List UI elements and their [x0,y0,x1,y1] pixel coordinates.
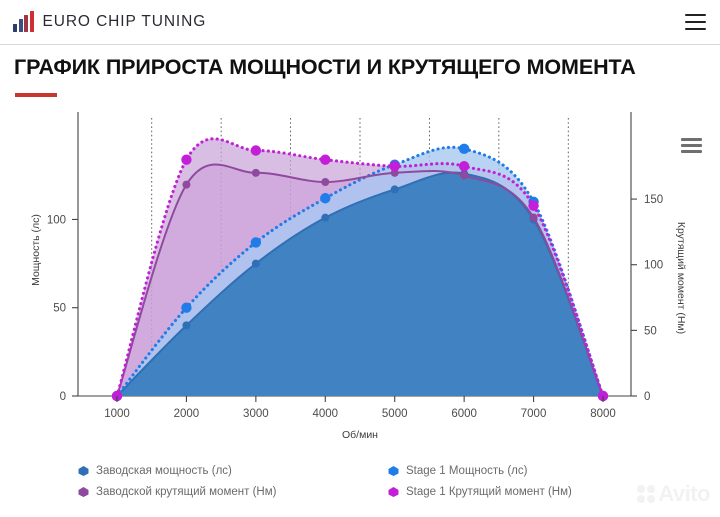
x-tick-label: 8000 [590,408,616,420]
avito-dots-icon [637,485,655,503]
legend-label: Stage 1 Крутящий момент (Нм) [406,486,572,498]
chart-legend: Заводская мощность (лс) Заводской крутящ… [0,455,720,517]
data-point[interactable] [251,237,261,247]
watermark-text: Avito [658,481,710,507]
data-point[interactable] [321,178,329,186]
bar-chart-logo-icon [13,12,34,32]
data-point[interactable] [181,303,191,313]
data-point[interactable] [182,321,190,329]
x-tick-label: 3000 [243,408,269,420]
x-tick-label: 2000 [174,408,200,420]
legend-item-stage1-torque[interactable]: Stage 1 Крутящий момент (Нм) [388,481,572,502]
x-tick-label: 6000 [451,408,477,420]
legend-item-stock-torque[interactable]: Заводской крутящий момент (Нм) [78,481,276,502]
x-tick-label: 7000 [521,408,547,420]
y-tick-label-right: 50 [644,325,657,337]
power-torque-chart: 0501000501001501000200030004000500060007… [0,110,720,455]
y-tick-label-left: 100 [47,214,66,226]
y-axis-title-right: Крутящий момент (Нм) [675,222,687,334]
y-tick-label-right: 100 [644,260,663,272]
data-point[interactable] [252,260,260,268]
data-point[interactable] [181,154,191,164]
hexagon-marker-icon [78,487,89,497]
legend-label: Stage 1 Мощность (лс) [406,465,527,477]
data-point[interactable] [460,171,468,179]
page-root: EURO CHIP TUNING ГРАФИК ПРИРОСТА МОЩНОСТ… [0,0,720,517]
legend-label: Заводская мощность (лс) [96,465,232,477]
x-tick-label: 4000 [312,408,338,420]
y-axis-title-left: Мощность (лс) [30,214,42,286]
data-point[interactable] [459,144,469,154]
legend-label: Заводской крутящий момент (Нм) [96,486,276,498]
brand-logo[interactable]: EURO CHIP TUNING [0,12,206,32]
hexagon-marker-icon [78,466,89,476]
data-point[interactable] [251,145,261,155]
y-tick-label-left: 0 [60,391,66,403]
y-tick-label-right: 150 [644,194,663,206]
avito-watermark: Avito [637,481,710,507]
x-tick-label: 1000 [104,408,130,420]
brand-name: EURO CHIP TUNING [43,13,207,31]
x-axis-title: Об/мин [342,429,378,441]
data-point[interactable] [530,213,538,221]
page-title: ГРАФИК ПРИРОСТА МОЩНОСТИ И КРУТЯЩЕГО МОМ… [14,55,704,80]
hamburger-menu-icon[interactable] [685,14,706,30]
legend-item-stock-power[interactable]: Заводская мощность (лс) [78,460,276,481]
data-point[interactable] [320,154,330,164]
title-underline [15,93,57,97]
legend-item-stage1-power[interactable]: Stage 1 Мощность (лс) [388,460,572,481]
site-header: EURO CHIP TUNING [0,0,720,45]
data-point[interactable] [459,161,469,171]
data-point[interactable] [252,169,260,177]
hexagon-marker-icon [388,466,399,476]
hexagon-marker-icon [388,487,399,497]
data-point[interactable] [391,185,399,193]
data-point[interactable] [390,161,400,171]
x-tick-label: 5000 [382,408,408,420]
data-point[interactable] [320,193,330,203]
data-point[interactable] [321,214,329,222]
y-tick-label-left: 50 [53,303,66,315]
y-tick-label-right: 0 [644,391,650,403]
data-point[interactable] [182,181,190,189]
data-point[interactable] [528,200,538,210]
